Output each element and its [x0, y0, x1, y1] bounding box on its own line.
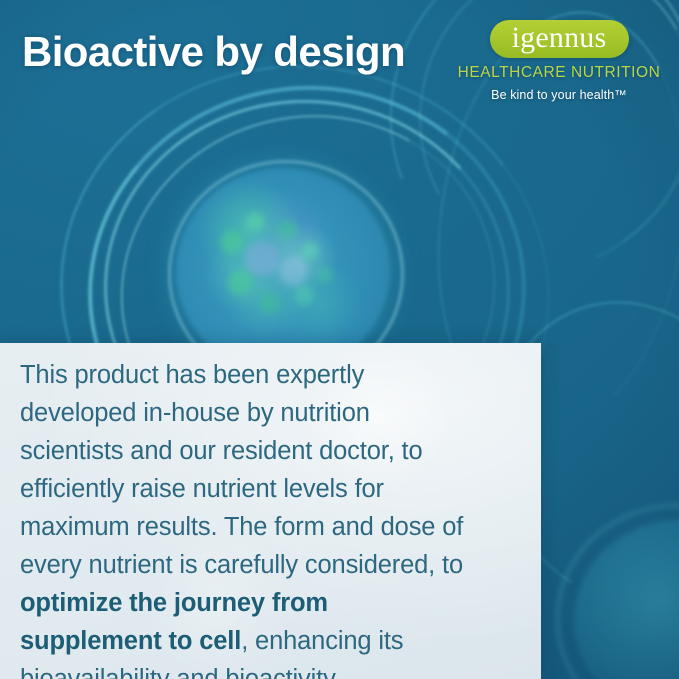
brand-wordmark: igennus — [512, 23, 607, 53]
panel-paragraph: This product has been expertly developed… — [20, 356, 472, 679]
brand-tagline: Be kind to your health™ — [453, 88, 665, 102]
page-title: Bioactive by design — [22, 28, 405, 76]
poster-canvas: Bioactive by design igennus HEALTHCARE N… — [0, 0, 679, 679]
copy-panel: This product has been expertly developed… — [0, 343, 541, 679]
brand-subtitle: HEALTHCARE NUTRITION — [453, 64, 665, 82]
brand-logo: igennus HEALTHCARE NUTRITION Be kind to … — [453, 20, 665, 102]
brand-pill: igennus — [490, 20, 629, 58]
